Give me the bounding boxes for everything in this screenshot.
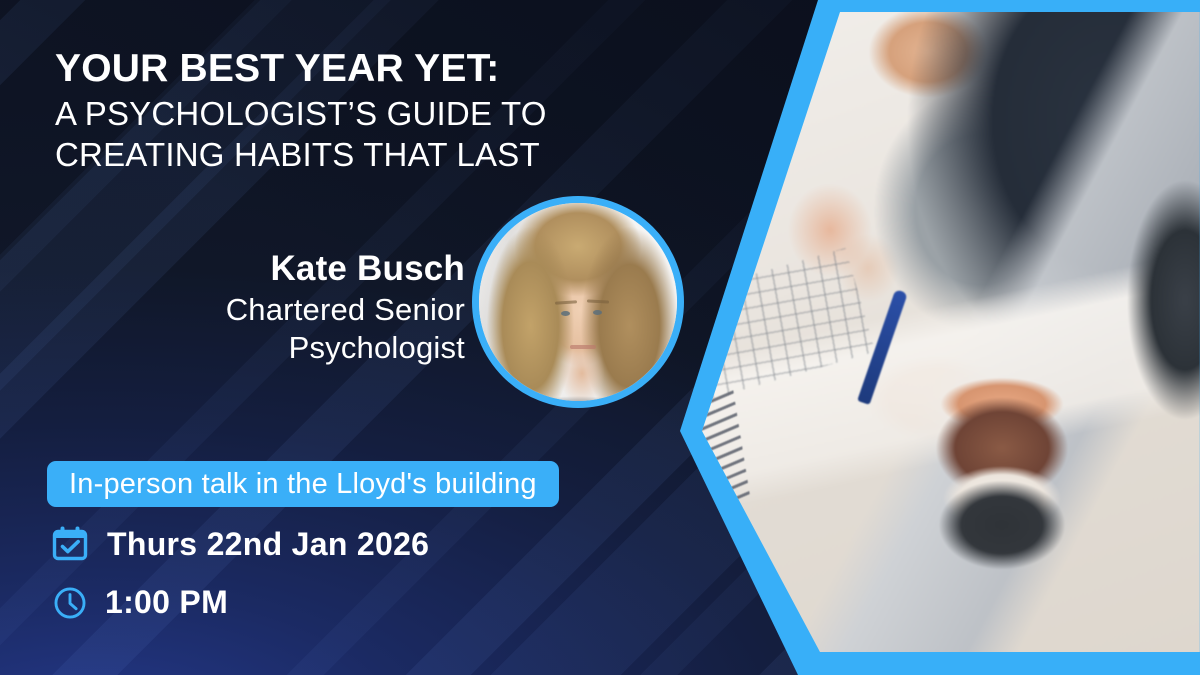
- portrait-eye-left: [561, 311, 570, 316]
- event-date-row: Thurs 22nd Jan 2026: [50, 524, 429, 564]
- headline-line-2: A PSYCHOLOGIST’S GUIDE TO: [55, 94, 715, 135]
- event-time-text: 1:00 PM: [105, 584, 228, 621]
- location-banner: In-person talk in the Lloyd's building: [47, 461, 559, 507]
- event-date-text: Thurs 22nd Jan 2026: [107, 526, 429, 563]
- speaker-portrait-avatar: [472, 196, 684, 408]
- speaker-name: Kate Busch: [55, 248, 465, 291]
- speaker-role-line-1: Chartered Senior: [55, 291, 465, 330]
- clock-icon: [52, 585, 88, 621]
- location-banner-text: In-person talk in the Lloyd's building: [69, 468, 537, 501]
- portrait-mouth: [570, 345, 596, 349]
- photo-panel: [680, 0, 1200, 675]
- speaker-block: Kate Busch Chartered Senior Psychologist: [55, 248, 465, 368]
- event-time-row: 1:00 PM: [50, 584, 228, 621]
- event-promo-poster: YOUR BEST YEAR YET: A PSYCHOLOGIST’S GUI…: [0, 0, 1200, 675]
- portrait-image: [479, 203, 677, 401]
- calendar-check-icon: [50, 524, 90, 564]
- headline-block: YOUR BEST YEAR YET: A PSYCHOLOGIST’S GUI…: [55, 46, 715, 176]
- speaker-role-line-2: Psychologist: [55, 329, 465, 368]
- portrait-eye-right: [593, 310, 602, 315]
- headline-line-1: YOUR BEST YEAR YET:: [55, 46, 715, 91]
- headline-line-3: CREATING HABITS THAT LAST: [55, 135, 715, 176]
